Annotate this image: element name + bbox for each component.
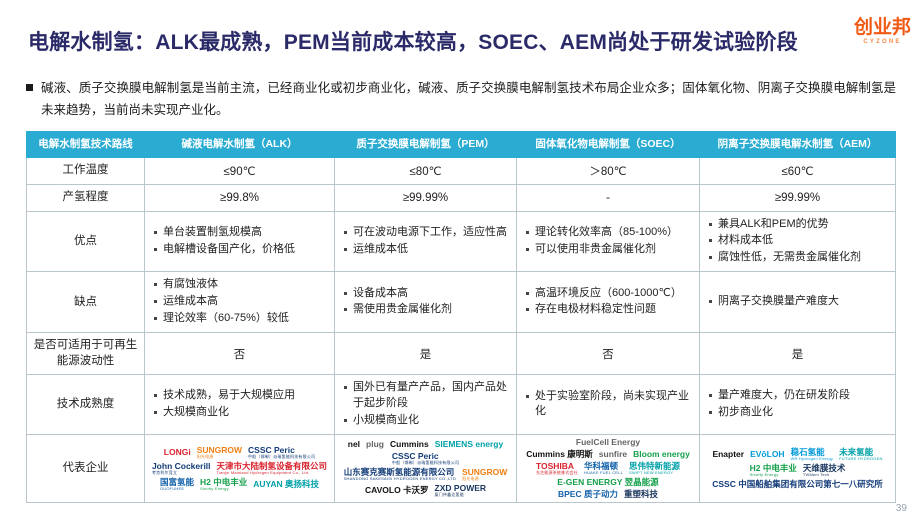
table-cell: 处于实验室阶段，尚未实现产业化 [517,375,700,435]
table-cell: 是 [700,333,896,375]
list-item: 设备成本高 [343,286,510,302]
company-logo-subtitle: SWIPT NEW ENERGY [629,471,673,475]
company-logo-name: Cummins [390,440,429,449]
list-item: 初步商业化 [708,405,889,421]
company-logo-name: Cummins 康明斯 [526,450,593,459]
company-logo: CSSC Peric中船（邯郸）派瑞氢能科技有限公司 [392,452,459,465]
company-cell-pem: nelplugCumminsSIEMENS energyCSSC Peric中船… [335,435,517,503]
company-logo-subtitle: 阳光电源 [462,477,479,481]
table-cell: 是 [335,333,517,375]
company-logo: SUNGROW阳光电源 [462,468,507,481]
page-title: 电解水制氢：ALK最成熟，PEM当前成本较高，SOEC、AEM尚处于研发试验阶段 [28,26,798,56]
company-logo-group: nelplugCumminsSIEMENS energyCSSC Peric中船… [338,440,513,497]
company-logo: E-GEN ENERGY 翌晶能源 [520,478,696,487]
table-header-row: 电解水制氢技术路线 碱液电解水制氢（ALK） 质子交换膜电解制氢（PEM） 固体… [27,132,896,158]
company-logo: TOSHIBA东芝能源系统株式会社 [536,462,578,475]
table-cell: 理论转化效率高（85-100%）可以使用非贵金属催化剂 [517,211,700,272]
company-logo-group: LONGiSUNGROW阳光电源CSSC Peric中船（邯郸）派瑞氢能科技有限… [148,446,331,491]
table-cell: 有腐蚀液体运维成本高理论效率（60-75%）较低 [145,272,335,333]
row-label: 产氢程度 [27,185,145,212]
company-logo-name: Bloom energy [633,450,690,459]
table-cell: ≤60℃ [700,158,896,185]
company-logo: John Cockerill考克利尔竞立 [152,462,211,475]
table-cell: ≤90℃ [145,158,335,185]
slide-root: 电解水制氢：ALK最成熟，PEM当前成本较高，SOEC、AEM尚处于研发试验阶段… [0,0,921,518]
table-cell: 设备成本高需使用贵金属催化剂 [335,272,517,333]
bullet-square-icon [26,84,33,91]
logo-text-zh: 创业邦 [854,18,911,37]
row-label: 缺点 [27,272,145,333]
list-item: 大规模商业化 [153,405,328,421]
logo-text-en: CYZONE [854,39,911,45]
company-logo-subtitle: WR Hydrogen Energy [791,457,834,461]
company-logo-subtitle: GUOFUHEE [160,487,184,491]
company-logo-name: sunfire [599,450,627,459]
table-cell: 技术成熟，易于大规模应用大规模商业化 [145,375,335,435]
company-logo-name: 重塑科技 [624,490,658,499]
company-logo: CSSC Peric中船（邯郸）派瑞氢能科技有限公司 [248,446,315,459]
table-cell: 单台装置制氢规模高电解槽设备国产化，价格低 [145,211,335,272]
cyzone-logo: 创业邦 CYZONE [854,18,911,45]
company-logo-subtitle: 中船（邯郸）派瑞氢能科技有限公司 [392,461,459,465]
company-logo-subtitle: 东芝能源系统株式会社 [536,471,578,475]
table-row: 工作温度≤90℃≤80℃＞80℃≤60℃ [27,158,896,185]
table-cell: ≥99.99% [335,185,517,212]
list-item: 可在波动电源下工作，适应性高 [343,225,510,241]
company-logo-name: AUYAN 奥扬科技 [253,480,319,489]
column-header-alk: 碱液电解水制氢（ALK） [145,132,335,158]
table-cell: 阴离子交换膜量产难度大 [700,272,896,333]
list-item: 理论效率（60-75%）较低 [153,311,328,327]
company-logo-group: FuelCell EnergyCummins 康明斯sunfireBloom e… [520,438,696,499]
company-logo-subtitle: Sinofty Energy [750,473,779,477]
company-logo: EVōLOH [750,450,784,459]
company-logo: SIEMENS energy [435,440,504,449]
company-logo-name: LONGi [164,448,191,457]
summary-bullet: 碱液、质子交换膜电解制氢是当前主流，已经商业化或初步商业化，碱液、质子交换膜电解… [26,78,896,122]
table-cell: 否 [145,333,335,375]
company-logo-subtitle: Tianjin Mainland Hydrogen Equipment Co.,… [217,471,310,475]
table-cell: - [517,185,700,212]
table-cell: 兼具ALK和PEM的优势材料成本低腐蚀性低，无需贵金属催化剂 [700,211,896,272]
company-cell-soec: FuelCell EnergyCummins 康明斯sunfireBloom e… [517,435,700,503]
table-cell: 高温环境反应（600-1000℃）存在电极材料稳定性问题 [517,272,700,333]
company-logo: AUYAN 奥扬科技 [253,480,319,489]
row-label: 工作温度 [27,158,145,185]
table-cell: ＞80℃ [517,158,700,185]
table-cell: ≥99.8% [145,185,335,212]
company-cell-alk: LONGiSUNGROW阳光电源CSSC Peric中船（邯郸）派瑞氢能科技有限… [145,435,335,503]
company-logo: FuelCell Energy [520,438,696,447]
table-body: 工作温度≤90℃≤80℃＞80℃≤60℃产氢程度≥99.8%≥99.99%-≥9… [27,158,896,503]
list-item: 阴离子交换膜量产难度大 [708,294,889,310]
list-item: 单台装置制氢规模高 [153,225,328,241]
company-logo-name: BPEC 质子动力 [558,490,618,499]
company-logo-name: SIEMENS energy [435,440,504,449]
list-item: 小规模商业化 [343,413,510,429]
row-label: 是否可适用于可再生能源波动性 [27,333,145,375]
list-item: 电解槽设备国产化，价格低 [153,242,328,258]
table-row: 技术成熟度技术成熟，易于大规模应用大规模商业化国外已有量产产品，国内产品处于起步… [27,375,896,435]
company-logo: H2 中电丰业Sinofty Energy [750,464,797,477]
row-label: 优点 [27,211,145,272]
company-logo-name: nel [348,440,360,449]
company-logo: nel [348,440,360,449]
table-row-companies: 代表企业LONGiSUNGROW阳光电源CSSC Peric中船（邯郸）派瑞氢能… [27,435,896,503]
company-logo: 华科福顿HUAKE FUEL CELL [584,462,623,475]
table-cell: ≥99.99% [700,185,896,212]
table-cell: 否 [517,333,700,375]
list-item: 理论转化效率高（85-100%） [525,225,693,241]
company-logo: SUNGROW阳光电源 [197,446,242,459]
company-logo: Cummins [390,440,429,449]
list-item: 存在电极材料稳定性问题 [525,302,693,318]
company-logo-name: Enapter [712,450,744,459]
company-logo: Bloom energy [633,450,690,459]
company-logo-subtitle: Sinofty Energy [200,487,229,491]
company-logo-name: CSSC 中国船舶集团有限公司第七一八研究所 [712,480,882,489]
company-logo: sunfire [599,450,627,459]
company-logo-subtitle: SHANDONG SAKESAISI HYDROGEN ENERGY CO.,L… [344,477,456,481]
company-logo-name: FuelCell Energy [576,438,640,447]
company-logo: Enapter [712,450,744,459]
summary-bullet-text: 碱液、质子交换膜电解制氢是当前主流，已经商业化或初步商业化，碱液、质子交换膜电解… [41,78,896,122]
company-logo: LONGi [164,448,191,457]
company-logo: CSSC 中国船舶集团有限公司第七一八研究所 [703,480,892,489]
list-item: 运维成本低 [343,242,510,258]
company-logo: 天维膜技术TWMem Tech [803,464,846,477]
table-row: 产氢程度≥99.8%≥99.99%-≥99.99% [27,185,896,212]
company-logo-subtitle: 阳光电源 [197,455,214,459]
company-logo: 稳石氢能WR Hydrogen Energy [791,448,834,461]
company-logo-name: EVōLOH [750,450,784,459]
company-logo-name: CAVOLO 卡沃罗 [365,486,429,495]
company-logo-subtitle: HUAKE FUEL CELL [584,471,623,475]
list-item: 需使用贵金属催化剂 [343,302,510,318]
company-logo: 未来氢能FUTURE HYDROGEN [839,448,882,461]
table-cell: ≤80℃ [335,158,517,185]
company-logo: plug [366,440,384,449]
company-logo-subtitle: FUTURE HYDROGEN [839,457,882,461]
list-item: 量产难度大，仍在研发阶段 [708,388,889,404]
company-logo-group: EnapterEVōLOH稳石氢能WR Hydrogen Energy未来氢能F… [703,448,892,489]
company-logo-subtitle: 厦门仲鑫达氢能 [435,493,464,497]
company-logo: 天津市大陆制氢设备有限公司Tianjin Mainland Hydrogen E… [217,462,328,475]
table-cell: 可在波动电源下工作，适应性高运维成本低 [335,211,517,272]
column-header-pem: 质子交换膜电解制氢（PEM） [335,132,517,158]
company-logo: 思伟特新能源SWIPT NEW ENERGY [629,462,680,475]
company-logo: 山东赛克赛斯氢能源有限公司SHANDONG SAKESAISI HYDROGEN… [344,468,456,481]
table-cell: 国外已有量产产品，国内产品处于起步阶段小规模商业化 [335,375,517,435]
list-item: 有腐蚀液体 [153,277,328,293]
list-item: 兼具ALK和PEM的优势 [708,217,889,233]
column-header-route: 电解水制氢技术路线 [27,132,145,158]
list-item: 国外已有量产产品，国内产品处于起步阶段 [343,380,510,411]
company-logo-subtitle: TWMem Tech [803,473,830,477]
list-item: 技术成熟，易于大规模应用 [153,388,328,404]
list-item: 运维成本高 [153,294,328,310]
company-logo: ZXD POWER厦门仲鑫达氢能 [435,484,486,497]
table-row: 优点单台装置制氢规模高电解槽设备国产化，价格低可在波动电源下工作，适应性高运维成… [27,211,896,272]
table-row: 是否可适用于可再生能源波动性否是否是 [27,333,896,375]
row-label: 技术成熟度 [27,375,145,435]
company-logo: BPEC 质子动力 [558,490,618,499]
company-logo-subtitle: 考克利尔竞立 [152,471,177,475]
company-logo: CAVOLO 卡沃罗 [365,486,429,495]
column-header-soec: 固体氧化物电解制氢（SOEC） [517,132,700,158]
company-logo: 国富氢能GUOFUHEE [160,478,194,491]
page-number: 39 [896,503,907,514]
list-item: 高温环境反应（600-1000℃） [525,286,693,302]
table-row: 缺点有腐蚀液体运维成本高理论效率（60-75%）较低设备成本高需使用贵金属催化剂… [27,272,896,333]
company-logo: 重塑科技 [624,490,658,499]
company-logo-name: plug [366,440,384,449]
company-logo: H2 中电丰业Sinofty Energy [200,478,247,491]
column-header-aem: 阴离子交换膜电解水制氢（AEM） [700,132,896,158]
company-logo-name: E-GEN ENERGY 翌晶能源 [557,478,658,487]
tech-comparison-table: 电解水制氢技术路线 碱液电解水制氢（ALK） 质子交换膜电解制氢（PEM） 固体… [26,131,896,503]
row-label: 代表企业 [27,435,145,503]
table-cell: 量产难度大，仍在研发阶段初步商业化 [700,375,896,435]
company-logo-subtitle: 中船（邯郸）派瑞氢能科技有限公司 [248,455,315,459]
list-item: 材料成本低 [708,233,889,249]
company-logo: Cummins 康明斯 [526,450,593,459]
list-item: 腐蚀性低，无需贵金属催化剂 [708,250,889,266]
list-item: 可以使用非贵金属催化剂 [525,242,693,258]
list-item: 处于实验室阶段，尚未实现产业化 [525,389,693,420]
company-cell-aem: EnapterEVōLOH稳石氢能WR Hydrogen Energy未来氢能F… [700,435,896,503]
